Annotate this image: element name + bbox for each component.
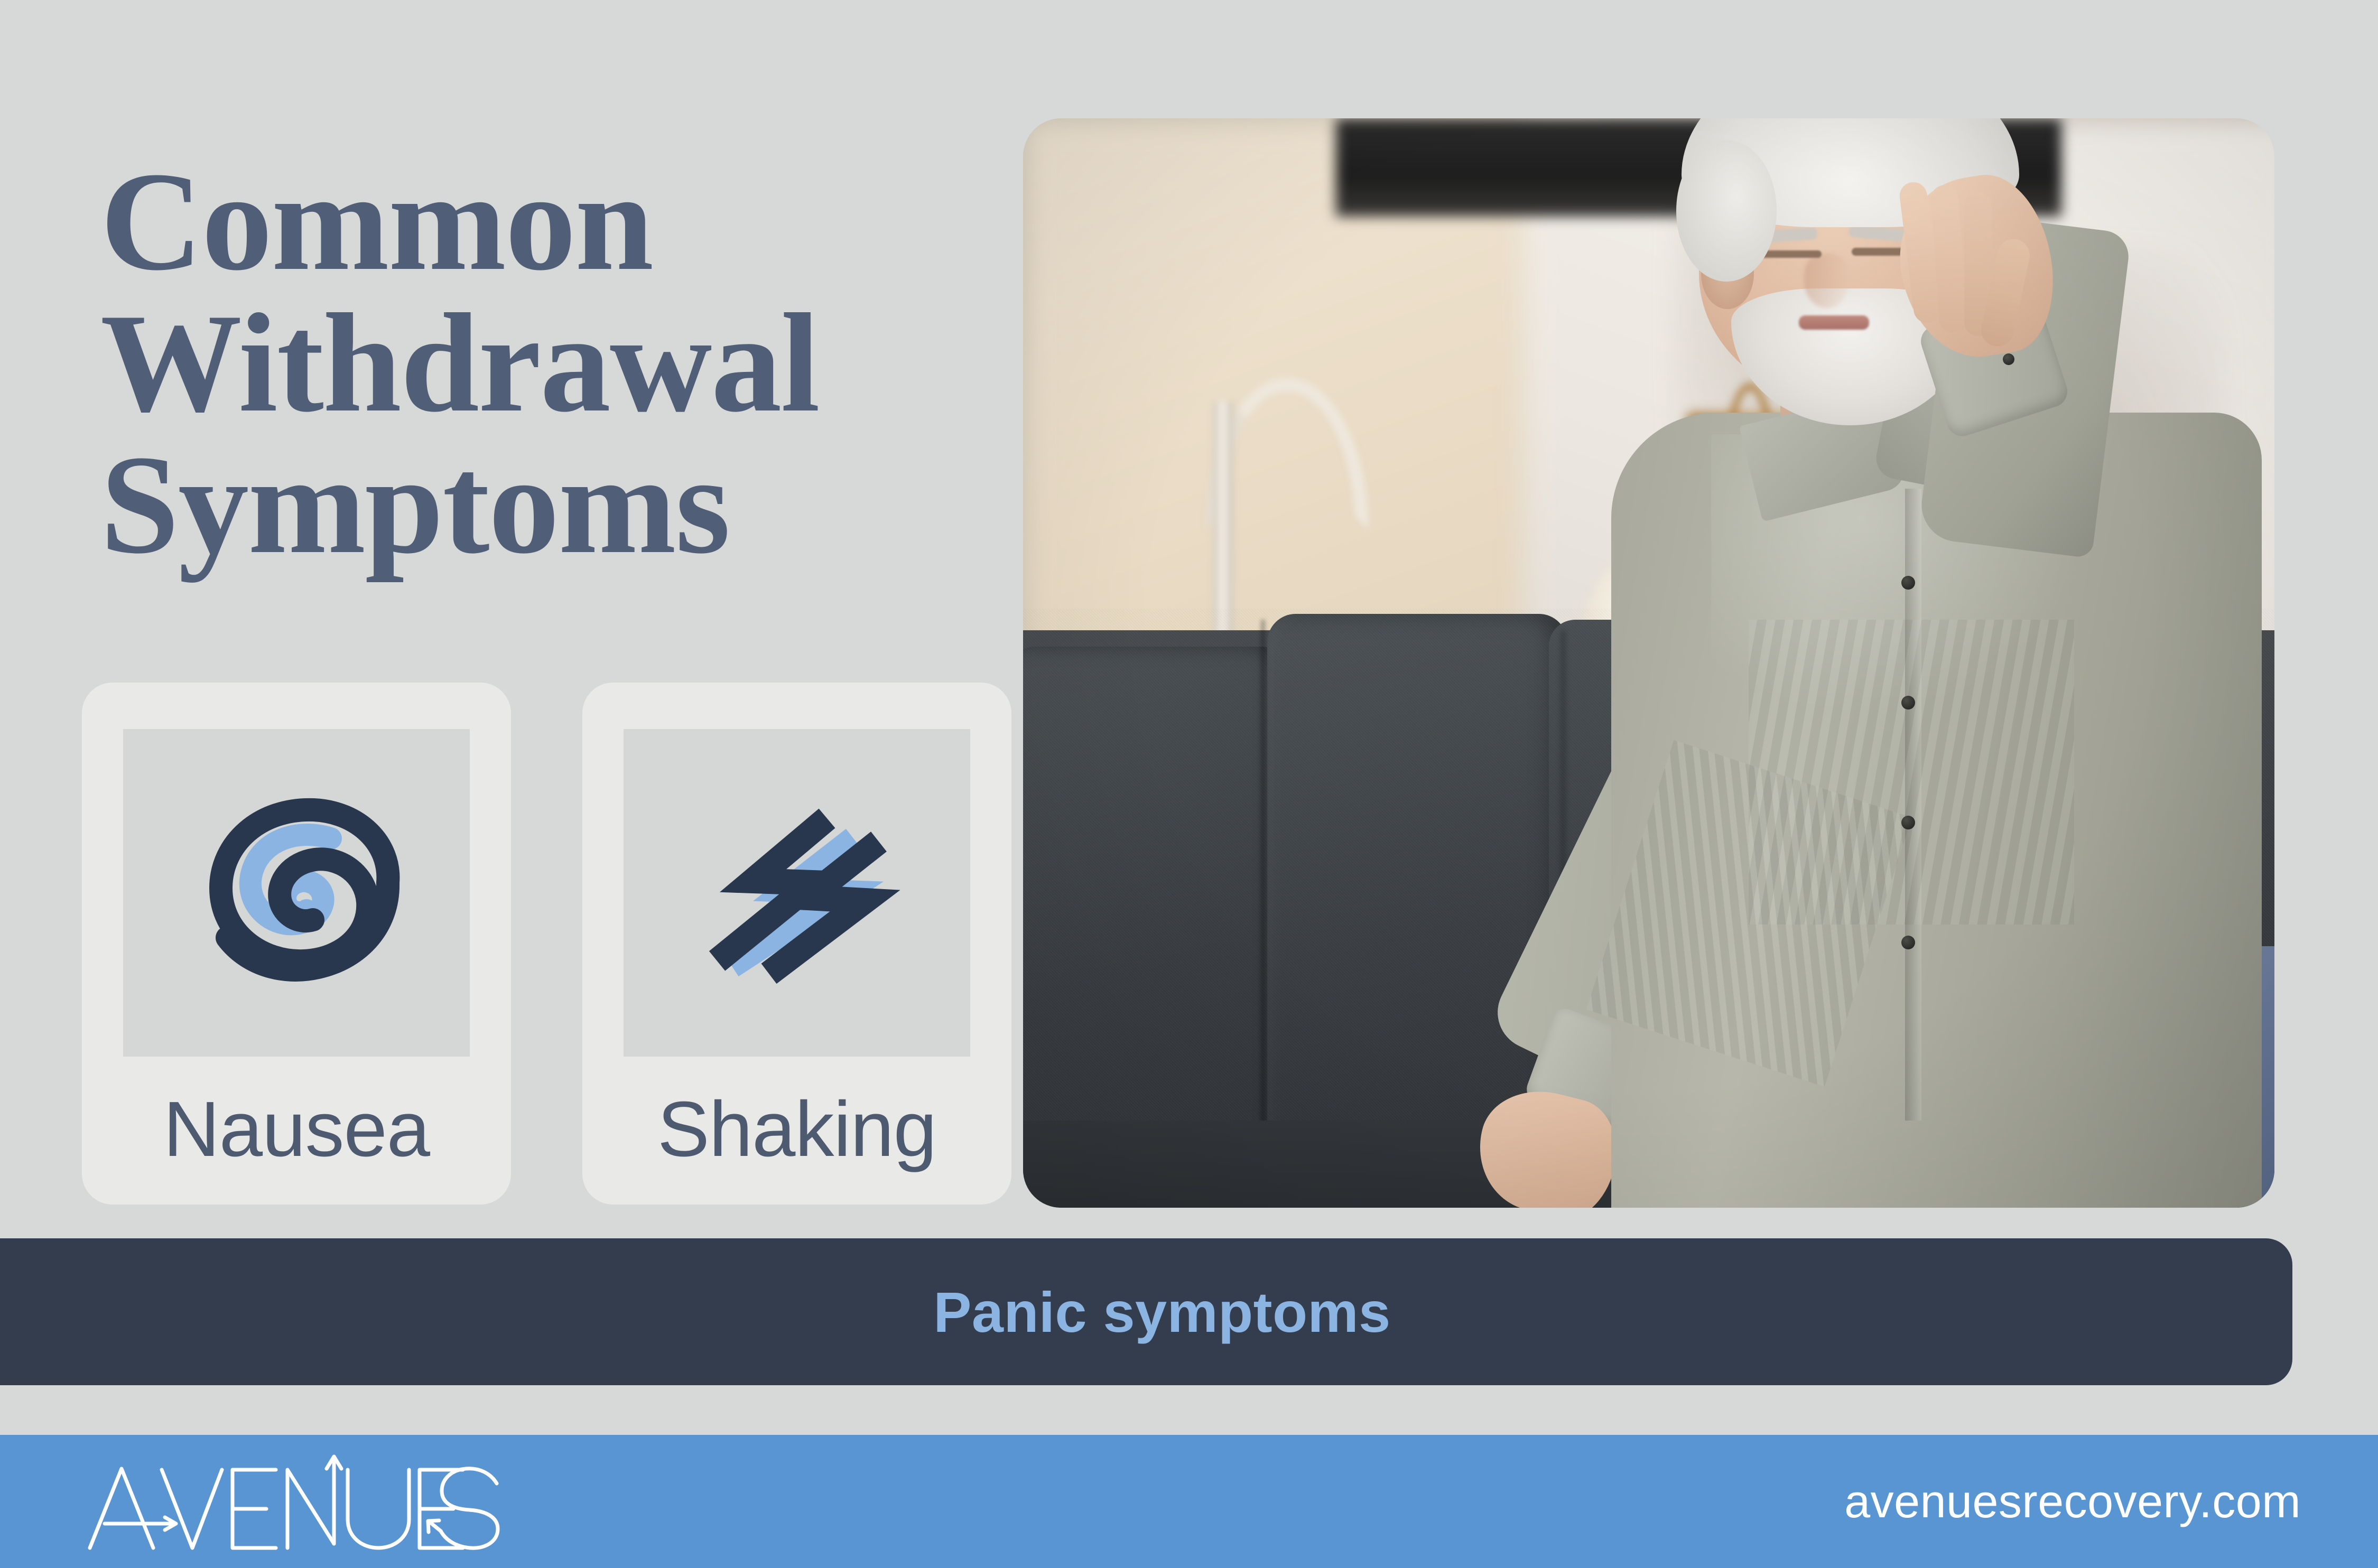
panic-symptoms-label: Panic symptoms xyxy=(933,1279,1390,1345)
symptom-icon-frame-shaking xyxy=(624,729,970,1057)
symptom-card-shaking[interactable]: Shaking xyxy=(582,683,1011,1205)
page-title-line-2: Withdrawal xyxy=(100,292,999,434)
footer-bar: avenuesrecovery.com xyxy=(0,1435,2378,1568)
avenues-logo[interactable] xyxy=(80,1454,503,1554)
spiral-icon xyxy=(172,779,421,1006)
photo-vignette xyxy=(1023,118,2274,1208)
infographic-canvas: Common Withdrawal Symptoms Nausea xyxy=(0,0,2378,1568)
panic-symptoms-banner: Panic symptoms xyxy=(0,1238,2292,1385)
hero-photo xyxy=(1023,118,2274,1208)
lightning-bolt-icon xyxy=(683,779,911,1006)
symptom-card-label: Shaking xyxy=(657,1090,936,1169)
page-title-line-1: Common xyxy=(100,151,999,292)
page-title: Common Withdrawal Symptoms xyxy=(100,151,999,575)
symptom-card-list: Nausea Shaking xyxy=(82,683,1012,1205)
symptom-icon-frame-nausea xyxy=(123,729,470,1057)
symptom-card-nausea[interactable]: Nausea xyxy=(82,683,511,1205)
footer-website-url[interactable]: avenuesrecovery.com xyxy=(1844,1474,2301,1528)
page-title-line-3: Symptoms xyxy=(100,434,999,575)
symptom-card-label: Nausea xyxy=(163,1090,430,1169)
